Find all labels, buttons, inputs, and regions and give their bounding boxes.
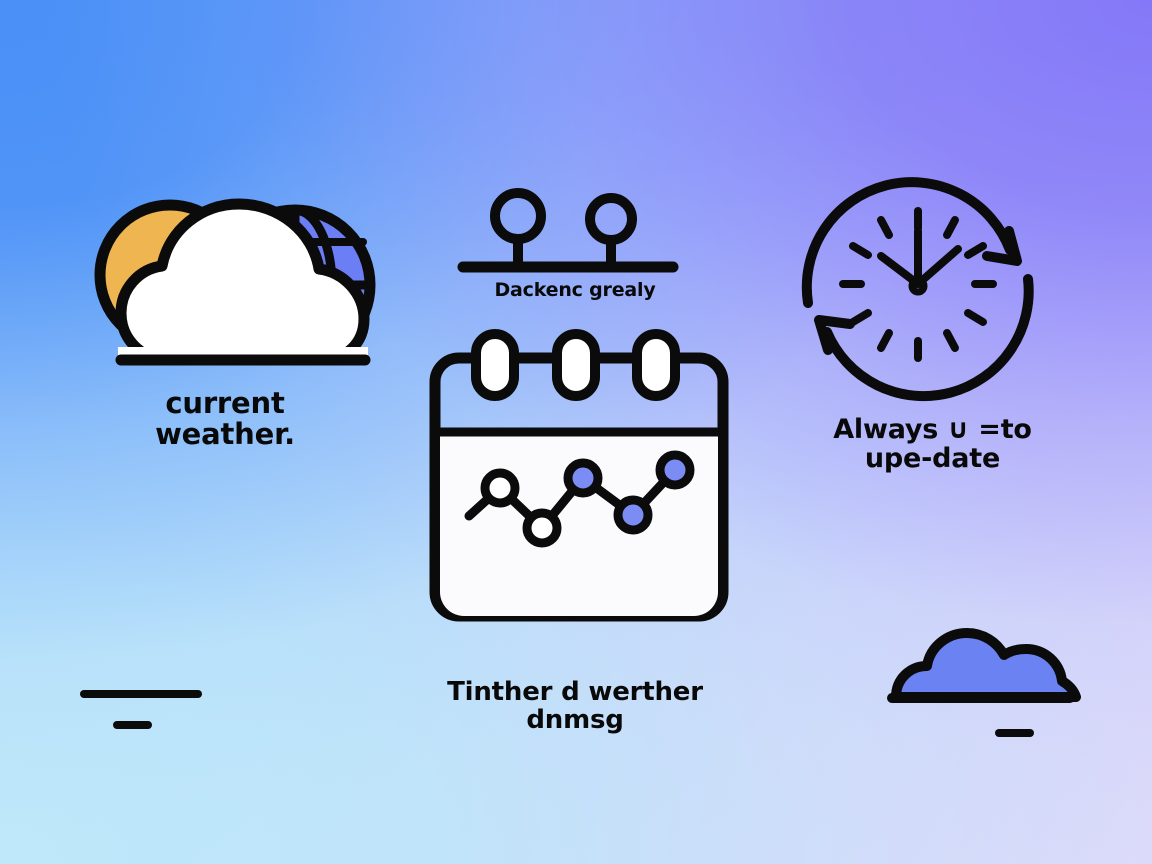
pin-head-right — [590, 198, 632, 240]
chart-point — [485, 473, 515, 503]
left-rule-marks — [70, 680, 220, 740]
calendar-ring-1 — [476, 334, 514, 396]
cloud-icon — [870, 625, 1090, 745]
weather-label: current weather. — [95, 388, 355, 451]
horizontal-rule-marks — [70, 680, 220, 740]
pins-icon-group — [455, 190, 700, 285]
small-cloud-group — [870, 625, 1090, 745]
chart-point — [527, 513, 557, 543]
calendar-label: Tinther d werther dnmsg — [400, 678, 750, 734]
chart-point — [618, 500, 648, 530]
clock-label: Always ∪ =to upe-date — [790, 415, 1075, 473]
chart-point — [568, 463, 598, 493]
chart-point — [660, 455, 690, 485]
pin-head-left — [495, 193, 541, 239]
clock-icon-group — [795, 183, 1045, 398]
pins-label: Dackenc grealy — [430, 280, 720, 301]
illustration-canvas: current weather. Dackenc grealy — [0, 0, 1152, 864]
two-pin-marker-icon — [455, 190, 700, 285]
calendar-ring-2 — [557, 334, 595, 396]
calendar-line-chart-icon — [425, 330, 735, 625]
clock-refresh-icon — [795, 183, 1045, 398]
calendar-ring-3 — [637, 334, 675, 396]
calendar-chart-group — [425, 330, 735, 625]
cloud-body — [896, 633, 1076, 697]
